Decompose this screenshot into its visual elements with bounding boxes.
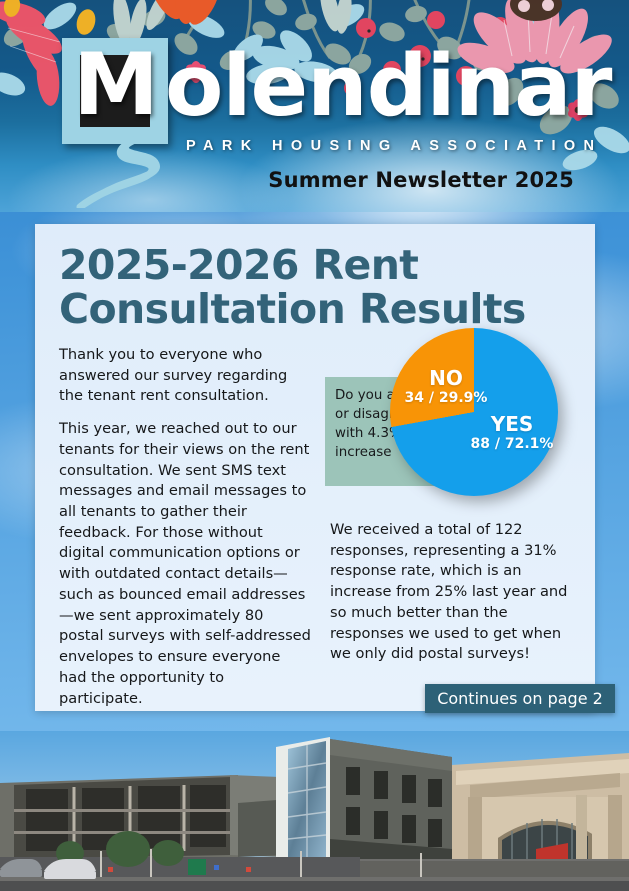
pie-label-yes: YES 88 / 72.1% [462, 414, 562, 453]
paragraph: Thank you to everyone who answered our s… [59, 345, 311, 407]
article-left-column: Thank you to everyone who answered our s… [59, 345, 311, 721]
logo-letter-m: M [62, 32, 168, 138]
pie-label-yes-name: YES [462, 414, 562, 435]
pie-label-no-value: 34 / 29.9% [396, 389, 496, 407]
article-right-column: We received a total of 122 responses, re… [330, 520, 582, 665]
newsletter-page: M olendinar PARK HOUSING ASSOCIATION Sum… [0, 0, 629, 891]
page-title: 2025-2026 Rent Consultation Results [59, 244, 579, 332]
results-pie-chart: NO 34 / 29.9% YES 88 / 72.1% [390, 328, 568, 506]
issue-label: Summer Newsletter 2025 [268, 168, 574, 192]
brand-wordmark: olendinar [165, 44, 611, 129]
continues-banner[interactable]: Continues on page 2 [425, 684, 615, 713]
paragraph: This year, we reached out to our tenants… [59, 419, 311, 709]
paragraph: We received a total of 122 responses, re… [330, 520, 582, 665]
brand-subtitle: PARK HOUSING ASSOCIATION [186, 138, 602, 154]
buildings-photo-svg [0, 731, 629, 891]
pie-label-no: NO 34 / 29.9% [396, 368, 496, 407]
buildings-photograph [0, 731, 629, 891]
river-swoosh-icon [56, 128, 186, 208]
pie-label-no-name: NO [396, 368, 496, 389]
pie-label-yes-value: 88 / 72.1% [462, 435, 562, 453]
article-card: 2025-2026 Rent Consultation Results Than… [35, 224, 595, 711]
